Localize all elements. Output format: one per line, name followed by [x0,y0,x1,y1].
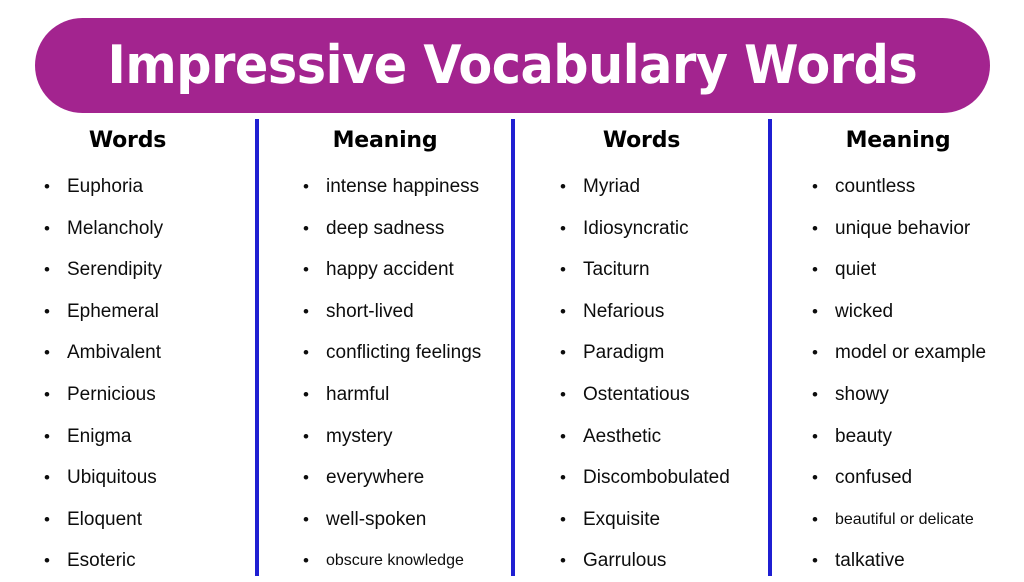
list-item-label: unique behavior [835,208,970,250]
list-item-label: Exquisite [583,499,660,541]
list-item-label: well-spoken [326,499,426,541]
bullet-icon: • [560,249,566,291]
bullet-icon: • [303,416,309,458]
bullet-icon: • [44,332,50,374]
bullet-icon: • [303,457,309,499]
list-item-label: Ostentatious [583,374,690,416]
list-item-label: Enigma [67,416,131,458]
column-meaning-right: Meaning •countless •unique behavior •qui… [772,116,1024,576]
bullet-icon: • [44,374,50,416]
list-item: •Eloquent [44,499,255,541]
list-item: •countless [812,166,1024,208]
list-item: •well-spoken [303,499,511,541]
list-item: •happy accident [303,249,511,291]
list-item: •beautiful or delicate [812,499,1024,541]
title-banner: Impressive Vocabulary Words [35,18,990,113]
list-item: •conflicting feelings [303,332,511,374]
bullet-icon: • [812,166,818,208]
bullet-icon: • [812,374,818,416]
bullet-icon: • [560,166,566,208]
bullet-icon: • [44,416,50,458]
bullet-icon: • [44,249,50,291]
list-item-label: Discombobulated [583,457,730,499]
list-item-label: Ambivalent [67,332,161,374]
list-item: •Idiosyncratic [560,208,768,250]
bullet-icon: • [812,332,818,374]
list-item-label: Nefarious [583,291,664,333]
bullet-icon: • [44,457,50,499]
list-item: •short-lived [303,291,511,333]
list-item-label: Ubiquitous [67,457,157,499]
list-item-label: Myriad [583,166,640,208]
list-item: •Exquisite [560,499,768,541]
list-item: •Myriad [560,166,768,208]
list-item-label: Ephemeral [67,291,159,333]
list-item-label: Aesthetic [583,416,661,458]
word-list-left: •Euphoria •Melancholy •Serendipity •Ephe… [0,166,255,582]
bullet-icon: • [812,416,818,458]
list-item-label: everywhere [326,457,424,499]
bullet-icon: • [44,208,50,250]
bullet-icon: • [44,291,50,333]
word-list-right: •Myriad •Idiosyncratic •Taciturn •Nefari… [515,166,768,582]
bullet-icon: • [303,499,309,541]
column-meaning-left: Meaning •intense happiness •deep sadness… [259,116,511,576]
column-words-right: Words •Myriad •Idiosyncratic •Taciturn •… [515,116,768,576]
list-item: •Pernicious [44,374,255,416]
list-item: •Aesthetic [560,416,768,458]
bullet-icon: • [560,332,566,374]
bullet-icon: • [812,499,818,541]
bullet-icon: • [303,249,309,291]
list-item-label: conflicting feelings [326,332,481,374]
bullet-icon: • [303,332,309,374]
list-item-label: Eloquent [67,499,142,541]
meaning-list-right: •countless •unique behavior •quiet •wick… [772,166,1024,582]
bullet-icon: • [560,457,566,499]
list-item-label: beauty [835,416,892,458]
column-header-words-left: Words [0,116,255,152]
list-item: •Taciturn [560,249,768,291]
list-item: •everywhere [303,457,511,499]
bullet-icon: • [303,166,309,208]
list-item-label: mystery [326,416,393,458]
list-item-label: Melancholy [67,208,163,250]
list-item-label: Taciturn [583,249,650,291]
list-item: •Ostentatious [560,374,768,416]
list-item: •Ubiquitous [44,457,255,499]
list-item-label: harmful [326,374,389,416]
list-item: •harmful [303,374,511,416]
list-item-label: Pernicious [67,374,156,416]
list-item: •quiet [812,249,1024,291]
list-item-label: happy accident [326,249,454,291]
list-item-label: showy [835,374,889,416]
list-item-label: model or example [835,332,986,374]
list-item: •Paradigm [560,332,768,374]
list-item-label: intense happiness [326,166,479,208]
list-item: •model or example [812,332,1024,374]
list-item-label: short-lived [326,291,414,333]
list-item: •Ephemeral [44,291,255,333]
list-item: •Euphoria [44,166,255,208]
list-item: •Ambivalent [44,332,255,374]
column-header-meaning-right: Meaning [772,116,1024,152]
bullet-icon: • [560,291,566,333]
list-item: •Discombobulated [560,457,768,499]
list-item-label: quiet [835,249,876,291]
page-title: Impressive Vocabulary Words [108,39,918,92]
bullet-icon: • [44,499,50,541]
bullet-icon: • [812,291,818,333]
vocabulary-table: Words •Euphoria •Melancholy •Serendipity… [0,116,1024,576]
list-item: •intense happiness [303,166,511,208]
list-item: •beauty [812,416,1024,458]
list-item-label: Serendipity [67,249,162,291]
list-item: •Melancholy [44,208,255,250]
list-item: •Serendipity [44,249,255,291]
list-item-label: Paradigm [583,332,664,374]
bullet-icon: • [303,374,309,416]
list-item-label: beautiful or delicate [835,499,974,541]
list-item: •mystery [303,416,511,458]
list-item-label: wicked [835,291,893,333]
list-item-label: Euphoria [67,166,143,208]
list-item-label: Idiosyncratic [583,208,689,250]
bullet-icon: • [812,457,818,499]
list-item: •confused [812,457,1024,499]
bullet-icon: • [303,291,309,333]
meaning-list-left: •intense happiness •deep sadness •happy … [259,166,511,582]
column-header-words-right: Words [515,116,768,152]
list-item-label: deep sadness [326,208,444,250]
list-item-label: countless [835,166,915,208]
column-header-meaning-left: Meaning [259,116,511,152]
list-item: •Enigma [44,416,255,458]
bullet-icon: • [303,208,309,250]
bullet-icon: • [812,208,818,250]
list-item: •unique behavior [812,208,1024,250]
bullet-icon: • [44,166,50,208]
bullet-icon: • [812,249,818,291]
list-item: •showy [812,374,1024,416]
list-item: •deep sadness [303,208,511,250]
list-item: •Nefarious [560,291,768,333]
bullet-icon: • [560,416,566,458]
list-item: •wicked [812,291,1024,333]
bullet-icon: • [560,208,566,250]
bullet-icon: • [560,499,566,541]
bullet-icon: • [560,374,566,416]
list-item-label: confused [835,457,912,499]
column-words-left: Words •Euphoria •Melancholy •Serendipity… [0,116,255,576]
